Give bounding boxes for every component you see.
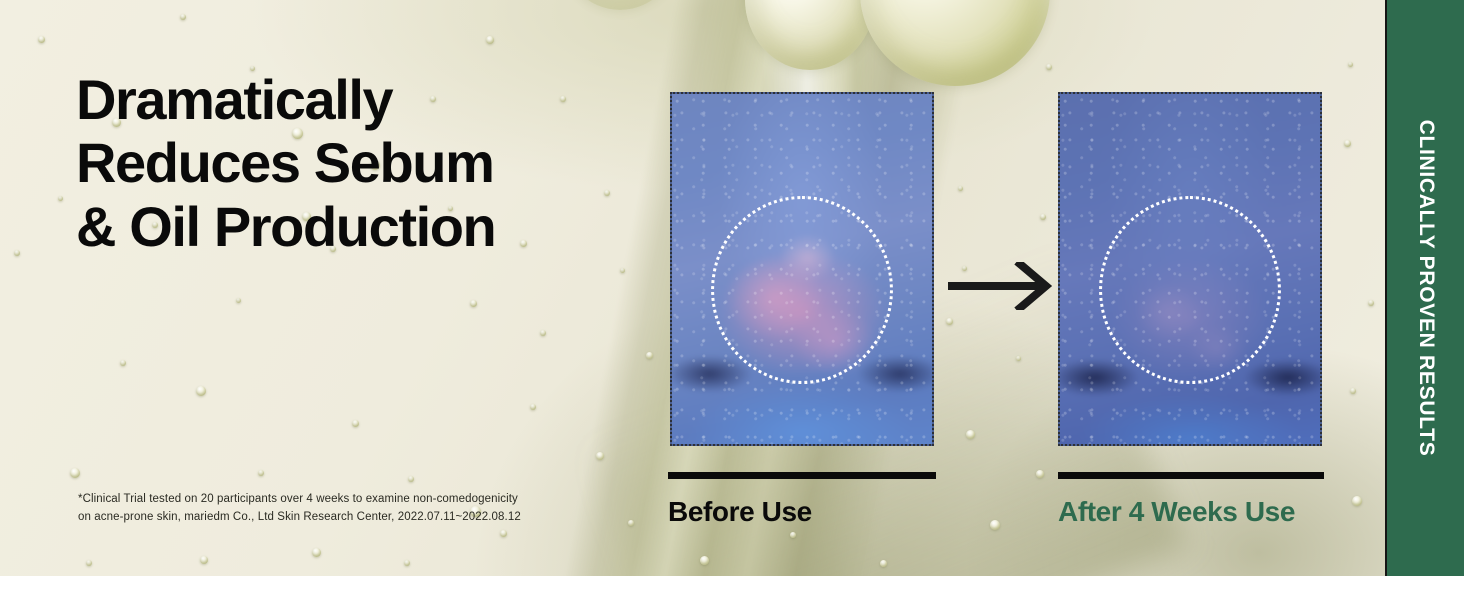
clinical-results-banner: Dramatically Reduces Sebum & Oil Product… <box>0 0 1464 576</box>
background-droplet <box>180 14 186 20</box>
background-droplet <box>880 560 887 567</box>
before-caption-rule <box>668 472 936 479</box>
background-droplet <box>560 96 566 102</box>
background-droplet <box>1348 62 1353 67</box>
background-droplet <box>258 470 264 476</box>
background-droplet <box>196 386 206 396</box>
background-droplet <box>86 560 92 566</box>
background-droplet <box>530 404 536 410</box>
background-droplet <box>596 452 604 460</box>
clinically-proven-rail: CLINICALLY PROVEN RESULTS <box>1385 0 1464 576</box>
background-droplet <box>520 240 527 247</box>
background-droplet <box>38 36 45 43</box>
after-highlight-circle <box>1099 196 1281 384</box>
clinical-trial-disclaimer: *Clinical Trial tested on 20 participant… <box>78 491 618 527</box>
background-droplet <box>14 250 20 256</box>
background-droplet <box>352 420 359 427</box>
background-droplet <box>1036 470 1044 478</box>
before-photo <box>670 92 934 446</box>
after-photo <box>1058 92 1322 446</box>
background-droplet <box>500 530 507 537</box>
arrow-right-icon <box>948 262 1052 310</box>
background-droplet <box>236 298 241 303</box>
background-droplet <box>1344 140 1351 147</box>
background-droplet <box>946 318 953 325</box>
background-droplet <box>620 268 625 273</box>
background-droplet <box>790 532 796 538</box>
background-droplet <box>646 352 653 359</box>
background-droplet <box>1040 214 1046 220</box>
background-droplet <box>58 196 63 201</box>
background-droplet <box>990 520 1000 530</box>
background-droplet <box>486 36 494 44</box>
background-droplet <box>540 330 546 336</box>
background-droplet <box>604 190 610 196</box>
background-droplet <box>1368 300 1374 306</box>
background-droplet <box>470 300 477 307</box>
rail-label: CLINICALLY PROVEN RESULTS <box>1414 120 1438 457</box>
background-droplet <box>408 476 414 482</box>
background-droplet <box>1046 64 1052 70</box>
before-caption-label: Before Use <box>668 496 812 528</box>
background-droplet <box>312 548 321 557</box>
background-droplet <box>70 468 80 478</box>
background-droplet <box>958 186 963 191</box>
page-title: Dramatically Reduces Sebum & Oil Product… <box>76 68 495 258</box>
background-droplet <box>200 556 208 564</box>
background-droplet <box>628 520 634 526</box>
background-droplet <box>120 360 126 366</box>
background-droplet <box>404 560 410 566</box>
background-droplet <box>1352 496 1362 506</box>
background-droplet <box>1016 356 1021 361</box>
background-droplet <box>700 556 709 565</box>
background-droplet <box>1350 388 1356 394</box>
after-caption-label: After 4 Weeks Use <box>1058 496 1295 528</box>
background-droplet <box>966 430 975 439</box>
after-caption-rule <box>1058 472 1324 479</box>
before-highlight-circle <box>711 196 893 384</box>
